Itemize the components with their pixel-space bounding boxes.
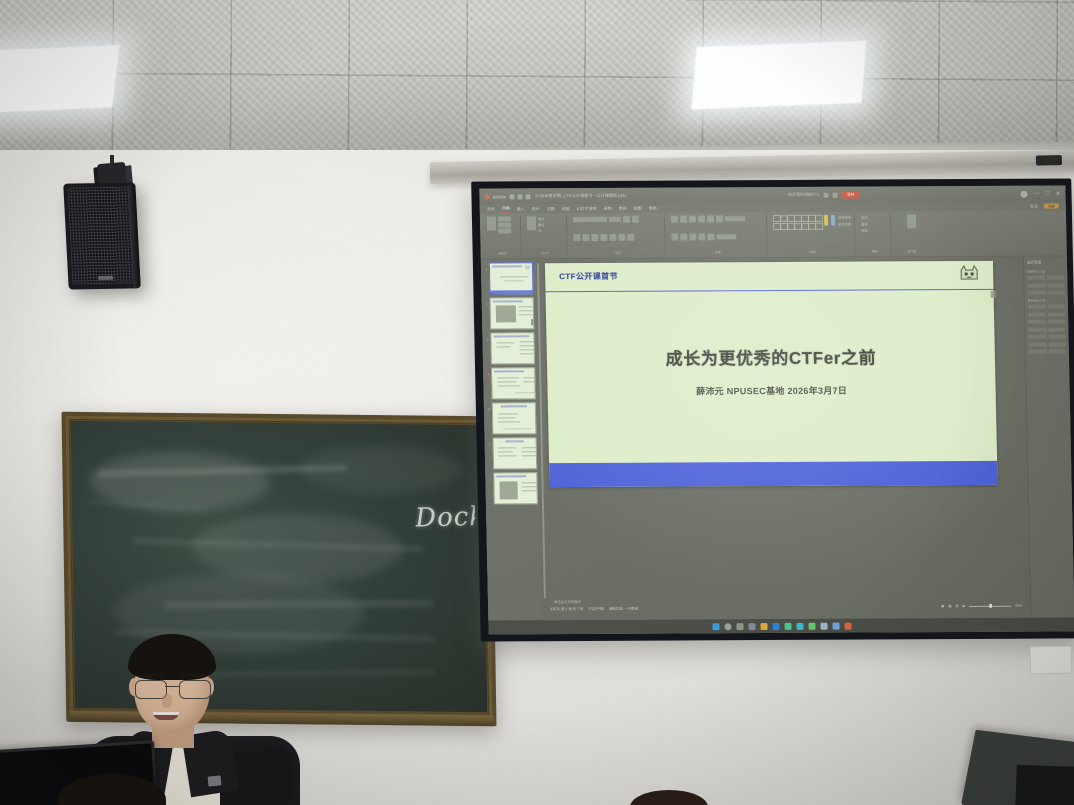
zoom-level-label[interactable]: 68% <box>1015 604 1022 608</box>
layout-label[interactable]: 版式 <box>538 216 544 221</box>
convert-smartart-button[interactable] <box>716 234 736 239</box>
thumbnail-number: 1 <box>483 263 487 272</box>
increase-font-icon[interactable] <box>623 216 630 223</box>
slide-thumbnail-3[interactable] <box>490 332 535 364</box>
thumbnail-number: 4 <box>485 368 489 377</box>
ribbon-group-font[interactable]: 字体 <box>570 215 666 256</box>
design-option[interactable] <box>1047 304 1065 308</box>
account-avatar[interactable] <box>1021 190 1028 197</box>
designer-section-recommended: 推荐设计方案 <box>1027 270 1064 274</box>
presenter-glasses <box>135 680 211 697</box>
justify-icon[interactable] <box>698 233 705 240</box>
design-option[interactable] <box>1028 320 1046 324</box>
increase-indent-icon[interactable] <box>698 215 705 222</box>
edge-icon[interactable] <box>772 622 779 629</box>
arrange-button[interactable] <box>831 215 835 226</box>
smartart-button[interactable] <box>725 216 745 221</box>
wechat-icon[interactable] <box>808 622 815 629</box>
quick-styles-button[interactable] <box>824 215 828 226</box>
thumbnail-number: 6 <box>487 437 491 446</box>
autosave-label: 自动保存 <box>492 194 506 199</box>
camera-icon[interactable] <box>833 192 838 197</box>
slide-header-title: CTF公开课首节 <box>559 271 618 282</box>
housing-end-cap <box>1036 155 1062 165</box>
design-option[interactable] <box>1048 334 1066 338</box>
search-icon[interactable] <box>724 623 731 630</box>
accessibility-indicator[interactable]: 辅助功能: 一切就绪 <box>609 605 638 610</box>
group-label-clipboard: 剪贴板 <box>488 251 518 255</box>
view-slideshow-icon[interactable]: ▶ <box>963 604 966 608</box>
shadow-icon[interactable] <box>600 233 607 240</box>
save-icon[interactable] <box>509 194 514 199</box>
font-size-box[interactable] <box>609 217 621 222</box>
format-painter-icon[interactable] <box>498 228 511 233</box>
slide-editing-area[interactable]: CTF公开课首节 成长为更优秀的CTFer之前 薛沛元 NPUS <box>535 257 1031 620</box>
ceiling <box>0 0 1074 165</box>
design-option[interactable] <box>1029 350 1047 354</box>
widgets-icon[interactable] <box>748 623 755 630</box>
slide-thumbnail-6[interactable] <box>492 437 537 469</box>
chalkboard-text: Dock <box>414 502 475 533</box>
ribbon-group-drawing[interactable]: 形状填充 形状轮廓 绘图 <box>770 214 856 255</box>
slide-thumbnail-5[interactable] <box>491 402 536 434</box>
group-label-drawing: 绘图 <box>774 250 852 254</box>
tab-insert[interactable]: 插入 <box>517 206 525 212</box>
ribbon-group-clipboard[interactable]: 剪贴板 <box>484 215 522 256</box>
design-option[interactable] <box>1028 291 1046 295</box>
thumbnail-number: 2 <box>484 298 488 307</box>
design-option[interactable] <box>1048 327 1066 331</box>
new-slide-icon[interactable] <box>527 216 536 230</box>
font-name-box[interactable] <box>573 217 607 222</box>
redo-icon[interactable] <box>525 194 530 199</box>
comments-button[interactable]: 批注 <box>1030 203 1038 209</box>
design-option[interactable] <box>1048 319 1066 323</box>
copy-icon[interactable] <box>498 222 511 227</box>
designer-section-more: 更多设计方案 <box>1028 299 1065 303</box>
slide-title-text: 成长为更优秀的CTFer之前 <box>547 343 996 370</box>
thumbnail-number: 3 <box>484 333 488 342</box>
chrome-icon[interactable] <box>832 622 839 629</box>
quick-access-toolbar[interactable]: 自动保存 <box>484 194 530 199</box>
group-label-designer: 设计器 <box>898 249 926 253</box>
designer-pane-title: 设计灵感 <box>1027 261 1064 266</box>
shape-more-icon[interactable] <box>815 223 823 230</box>
tab-file[interactable]: 文件 <box>487 206 495 212</box>
speaker-grille <box>67 187 135 285</box>
reset-label[interactable]: 重设 <box>538 222 544 227</box>
pen-icon[interactable] <box>824 192 829 197</box>
view-sorter-icon[interactable]: ▦ <box>948 604 951 608</box>
tab-design[interactable]: 设计 <box>532 206 540 212</box>
character-spacing-icon[interactable] <box>618 233 625 240</box>
thumbnail-row[interactable]: 5 <box>486 402 537 434</box>
slide-indicator: 幻灯片 第 1 张,共 7 张 <box>550 605 583 610</box>
design-option[interactable] <box>1048 349 1066 353</box>
design-option[interactable] <box>1028 312 1046 316</box>
group-label-font: 字体 <box>574 251 662 255</box>
font-color-icon[interactable] <box>627 233 634 240</box>
wall-speaker <box>63 182 141 289</box>
design-option[interactable] <box>1028 305 1046 309</box>
zoom-slider-knob[interactable] <box>989 604 992 608</box>
task-view-icon[interactable] <box>736 623 743 630</box>
share-button[interactable]: 共享 <box>1044 204 1059 209</box>
shape-star-icon[interactable] <box>815 215 823 222</box>
text-direction-icon[interactable] <box>716 215 723 222</box>
ceiling-shading <box>0 0 1074 165</box>
thumbnail-row[interactable]: 7 <box>487 472 538 504</box>
maximize-button[interactable]: □ <box>1046 191 1050 197</box>
slide-thumbnail-7[interactable] <box>493 472 538 504</box>
shape-outline-label[interactable]: 形状轮廓 <box>838 221 851 226</box>
presenter-hair <box>128 634 216 680</box>
slide-thumbnail-pane[interactable]: 1 2 <box>481 259 543 620</box>
foreground-monitor-base <box>1015 765 1074 805</box>
design-option[interactable] <box>1048 312 1066 316</box>
shapes-gallery[interactable] <box>773 215 821 230</box>
projector-screen: 自动保存 2026年春学期_CTF公开课首节 - 公开课模板.pptx 告诉我你… <box>471 178 1074 641</box>
glasses-lens-right <box>179 680 211 699</box>
decrease-indent-icon[interactable] <box>689 215 696 222</box>
ceiling-light-right <box>691 41 866 110</box>
tab-help[interactable]: 帮助 <box>649 205 657 211</box>
tab-home[interactable]: 开始 <box>502 205 510 213</box>
qq-icon[interactable] <box>820 622 827 629</box>
align-right-icon[interactable] <box>689 233 696 240</box>
design-option[interactable] <box>1047 283 1065 287</box>
shape-fill-label[interactable]: 形状填充 <box>838 215 851 220</box>
classroom-photo: Dock 自动保存 2026年春学期_CTF公开课首节 - 公开课模板.p <box>0 0 1074 805</box>
thumbnail-row[interactable]: 2 <box>484 297 535 329</box>
view-normal-icon[interactable]: ▣ <box>941 604 944 608</box>
select-label[interactable]: 选择 <box>861 227 887 232</box>
design-option[interactable] <box>1028 335 1046 339</box>
tab-transitions[interactable]: 切换 <box>547 206 555 212</box>
align-center-icon[interactable] <box>680 233 687 240</box>
columns-icon[interactable] <box>707 233 714 240</box>
thumbnail-row[interactable]: 1 <box>483 262 534 294</box>
search-placeholder: 告诉我你想做什么 <box>788 192 820 198</box>
document-title: 2026年春学期_CTF公开课首节 - 公开课模板.pptx <box>535 193 626 199</box>
current-slide[interactable]: CTF公开课首节 成长为更优秀的CTFer之前 薛沛元 NPUS <box>545 261 998 487</box>
ribbon-group-designer[interactable]: 设计器 <box>894 213 929 254</box>
projector-screen-surface: 自动保存 2026年春学期_CTF公开课首节 - 公开课模板.pptx 告诉我你… <box>479 186 1074 635</box>
thumbnail-row[interactable]: 3 <box>484 332 535 364</box>
thumbnail-number: 5 <box>486 402 490 411</box>
designer-icon[interactable] <box>906 214 915 228</box>
align-left-icon[interactable] <box>671 233 678 240</box>
record-button[interactable]: 录制 <box>842 191 859 198</box>
cut-icon[interactable] <box>498 216 511 221</box>
design-option[interactable] <box>1047 291 1065 295</box>
tab-review[interactable]: 审阅 <box>619 205 627 211</box>
jacket-brand-logo <box>208 775 222 786</box>
decrease-font-icon[interactable] <box>632 216 639 223</box>
ribbon-group-editing[interactable]: 查找 替换 选择 编辑 <box>858 213 892 254</box>
glasses-bridge <box>165 686 179 687</box>
bullets-icon[interactable] <box>671 216 678 223</box>
slide-thumbnail-1[interactable] <box>488 262 533 294</box>
design-option[interactable] <box>1027 283 1045 287</box>
presenter-nose <box>162 694 172 708</box>
powerpoint-body: 1 2 <box>481 256 1074 620</box>
group-label-editing: 编辑 <box>862 249 888 253</box>
undo-icon[interactable] <box>517 194 522 199</box>
design-option[interactable] <box>1047 276 1065 280</box>
thumbnail-row[interactable]: 4 <box>485 367 536 399</box>
presenter-mouth <box>153 712 179 720</box>
tab-slideshow[interactable]: 幻灯片放映 <box>577 205 597 211</box>
speaker-badge <box>98 276 113 280</box>
line-spacing-icon[interactable] <box>707 215 714 222</box>
slide-thumbnail-2[interactable] <box>489 297 534 329</box>
powerpoint-window: 自动保存 2026年春学期_CTF公开课首节 - 公开课模板.pptx 告诉我你… <box>479 186 1074 635</box>
design-option[interactable] <box>1048 342 1066 346</box>
search-box[interactable]: 告诉我你想做什么 录制 <box>788 191 859 198</box>
thumbnail-number: 7 <box>487 472 491 481</box>
zoom-slider[interactable] <box>969 605 1011 606</box>
slide-thumbnail-4[interactable] <box>491 367 536 399</box>
close-button[interactable]: ✕ <box>1055 190 1060 197</box>
powerpoint-icon[interactable] <box>844 622 851 629</box>
section-label[interactable]: 节 <box>538 228 544 233</box>
ribbon-group-paragraph[interactable]: 段落 <box>668 214 768 256</box>
italic-icon[interactable] <box>582 233 589 240</box>
language-indicator[interactable]: 中文(中国) <box>588 605 604 610</box>
find-label[interactable]: 查找 <box>861 214 887 219</box>
tab-animations[interactable]: 动画 <box>562 206 570 212</box>
store-icon[interactable] <box>784 622 791 629</box>
npusec-mascot-logo <box>957 263 981 283</box>
underline-icon[interactable] <box>591 233 598 240</box>
tab-record[interactable]: 录制 <box>604 205 612 211</box>
group-label-slides: 幻灯片 <box>528 251 564 255</box>
ceiling-light-left <box>0 45 119 113</box>
slide-resize-handle[interactable] <box>991 291 996 298</box>
design-option[interactable] <box>1027 276 1045 280</box>
strikethrough-icon[interactable] <box>609 233 616 240</box>
start-icon[interactable] <box>712 623 719 630</box>
minimize-button[interactable]: — <box>1034 191 1040 197</box>
status-bar: 幻灯片 第 1 张,共 7 张 中文(中国) 辅助功能: 一切就绪 ▣ ▦ ▤ … <box>542 602 1030 613</box>
paste-icon[interactable] <box>487 216 496 230</box>
design-option[interactable] <box>1028 327 1046 331</box>
bold-icon[interactable] <box>573 234 580 241</box>
designer-pane[interactable]: 设计灵感 推荐设计方案 更多设计方案 <box>1023 256 1074 617</box>
ribbon-group-slides[interactable]: 版式 重设 节 幻灯片 <box>524 215 568 256</box>
ribbon[interactable]: 剪贴板 版式 重设 节 幻灯片 <box>480 211 1067 260</box>
wall-panel <box>1030 646 1072 675</box>
autosave-toggle-icon[interactable] <box>484 194 489 199</box>
tab-view[interactable]: 视图 <box>634 205 642 211</box>
explorer-icon[interactable] <box>760 623 767 630</box>
thumbnail-row[interactable]: 6 <box>487 437 538 469</box>
slide-subtitle-text: 薛沛元 NPUSEC基地 2026年3月7日 <box>547 383 995 398</box>
design-option[interactable] <box>1029 342 1047 346</box>
numbering-icon[interactable] <box>680 215 687 222</box>
replace-label[interactable]: 替换 <box>861 221 887 226</box>
view-reading-icon[interactable]: ▤ <box>955 604 958 608</box>
window-controls[interactable]: — □ ✕ <box>1021 190 1061 197</box>
group-label-paragraph: 段落 <box>672 250 764 254</box>
slide-footer-band <box>549 461 998 487</box>
mail-icon[interactable] <box>796 622 803 629</box>
